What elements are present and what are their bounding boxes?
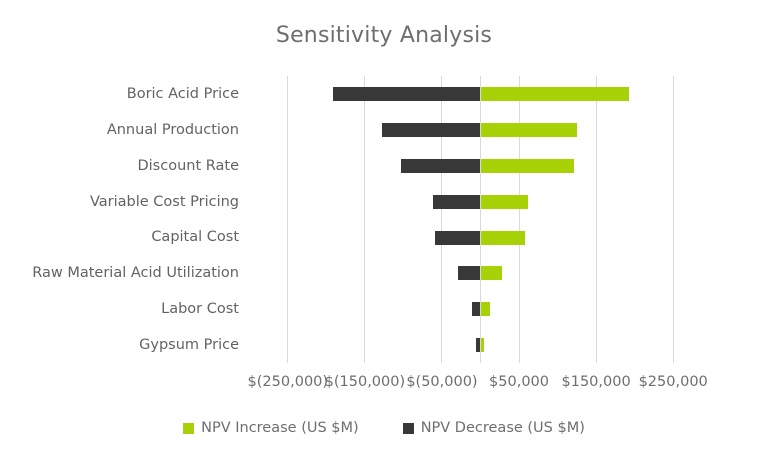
bar-npv-decrease[interactable] <box>458 266 480 280</box>
bar-row <box>257 184 704 220</box>
x-axis-tick-label: $(50,000) <box>406 372 477 392</box>
category-label: Labor Cost <box>0 300 239 318</box>
bar-row <box>257 255 704 291</box>
bar-npv-increase[interactable] <box>481 123 577 137</box>
bar-npv-decrease[interactable] <box>401 159 480 173</box>
legend-swatch-npv-decrease <box>403 423 414 434</box>
bar-row <box>257 148 704 184</box>
x-axis-tick-label: $(250,000) <box>248 372 329 392</box>
category-label: Capital Cost <box>0 228 239 246</box>
plot-area <box>257 76 704 363</box>
bar-npv-increase[interactable] <box>481 159 574 173</box>
category-label: Annual Production <box>0 121 239 139</box>
x-axis-tick-label: $250,000 <box>639 372 708 392</box>
legend-label: NPV Increase (US $M) <box>201 419 359 437</box>
bar-npv-increase[interactable] <box>481 266 503 280</box>
bar-npv-increase[interactable] <box>481 231 526 245</box>
legend-label: NPV Decrease (US $M) <box>421 419 585 437</box>
category-label: Variable Cost Pricing <box>0 193 239 211</box>
legend-swatch-npv-increase <box>183 423 194 434</box>
bar-npv-increase[interactable] <box>481 195 528 209</box>
category-label: Raw Material Acid Utilization <box>0 264 239 282</box>
bar-row <box>257 327 704 363</box>
x-axis-tick-label: $(150,000) <box>325 372 406 392</box>
bar-row <box>257 220 704 256</box>
bar-row <box>257 76 704 112</box>
bar-npv-decrease[interactable] <box>333 87 481 101</box>
bar-npv-decrease[interactable] <box>433 195 480 209</box>
legend-item[interactable]: NPV Decrease (US $M) <box>403 419 585 437</box>
chart-title: Sensitivity Analysis <box>0 22 768 50</box>
bar-row <box>257 112 704 148</box>
bar-npv-increase[interactable] <box>481 87 630 101</box>
bar-npv-increase[interactable] <box>481 302 490 316</box>
legend-item[interactable]: NPV Increase (US $M) <box>183 419 359 437</box>
category-label: Gypsum Price <box>0 336 239 354</box>
x-axis-tick-labels: $(250,000)$(150,000)$(50,000)$50,000$150… <box>0 372 768 394</box>
bar-npv-increase[interactable] <box>481 338 484 352</box>
category-label: Boric Acid Price <box>0 85 239 103</box>
bar-row <box>257 291 704 327</box>
x-axis-tick-label: $50,000 <box>489 372 549 392</box>
chart-legend: NPV Increase (US $M)NPV Decrease (US $M) <box>0 419 768 437</box>
y-axis-category-labels: Boric Acid PriceAnnual ProductionDiscoun… <box>0 76 249 363</box>
x-axis-tick-label: $150,000 <box>562 372 631 392</box>
bar-npv-decrease[interactable] <box>382 123 481 137</box>
sensitivity-analysis-chart: Sensitivity Analysis Boric Acid PriceAnn… <box>0 0 768 461</box>
bar-npv-decrease[interactable] <box>435 231 480 245</box>
bar-npv-decrease[interactable] <box>472 302 480 316</box>
category-label: Discount Rate <box>0 157 239 175</box>
